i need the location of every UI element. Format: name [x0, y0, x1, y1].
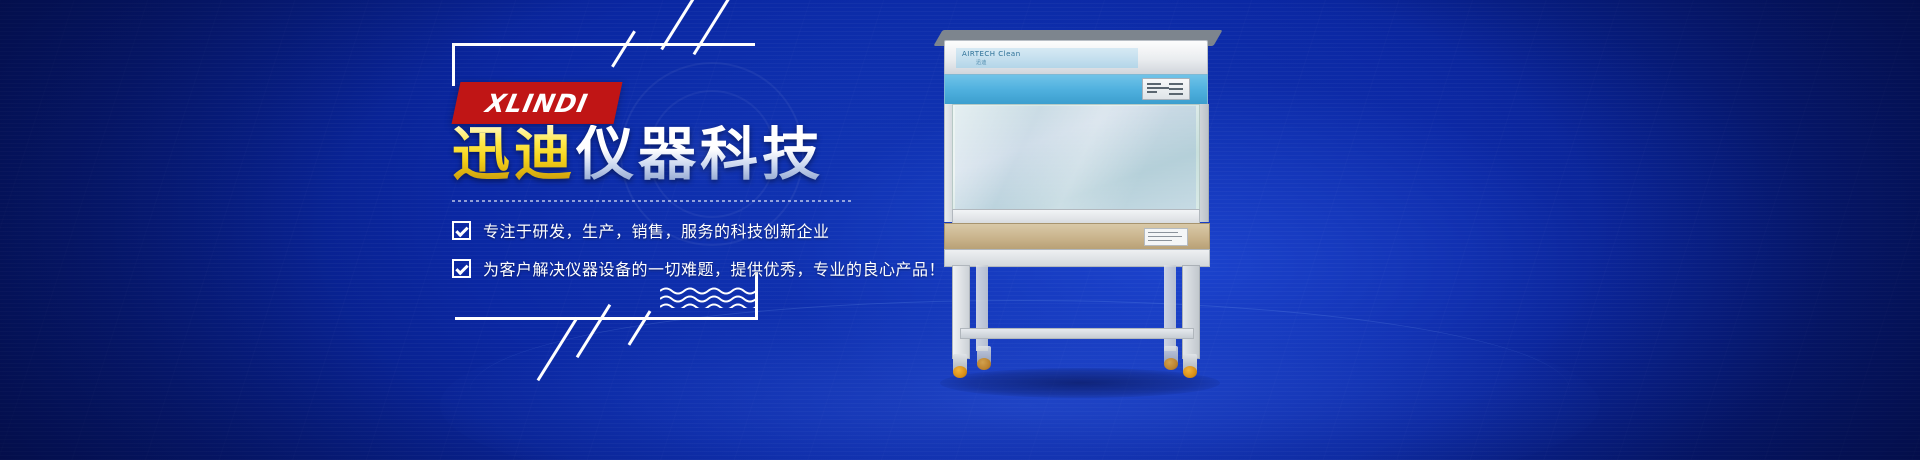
slash-decor-5 [537, 317, 579, 381]
title-part-silver: 仪器科技 [576, 125, 824, 183]
product-image-clean-bench: AIRTECH Clean 迅迪 [930, 28, 1230, 398]
caster-wheel-back-left [977, 346, 991, 364]
checkbox-check-icon [452, 259, 471, 278]
title-part-gold: 迅迪 [452, 125, 576, 183]
logo-text: XLINDI [452, 82, 623, 124]
caster-wheel-back-right [1164, 346, 1178, 364]
logo-parallelogram-shape: XLINDI [452, 82, 623, 124]
control-panel [1142, 78, 1190, 100]
caster-wheel-front-right [1183, 354, 1197, 372]
cabinet-leg-front-left [952, 265, 970, 359]
frame-corner-top-left [452, 43, 755, 86]
list-item: 专注于研发，生产，销售，服务的科技创新企业 [452, 214, 945, 246]
cabinet-spec-label [1144, 228, 1188, 246]
product-shadow [940, 368, 1220, 398]
list-item-label: 专注于研发，生产，销售，服务的科技创新企业 [483, 218, 830, 242]
promo-banner: XLINDI 迅迪 仪器科技 专注于研发，生产，销售，服务的科技创新企业 为客户… [0, 0, 1920, 460]
list-item-label: 为客户解决仪器设备的一切难题，提供优秀，专业的良心产品！ [483, 256, 945, 280]
brand-logo: XLINDI [456, 82, 618, 124]
feature-list: 专注于研发，生产，销售，服务的科技创新企业 为客户解决仪器设备的一切难题，提供优… [452, 214, 945, 290]
page-title: 迅迪 仪器科技 [452, 125, 824, 183]
list-item: 为客户解决仪器设备的一切难题，提供优秀，专业的良心产品！ [452, 252, 945, 284]
cabinet-leg-front-right [1182, 265, 1200, 359]
cabinet-glass-sash [952, 104, 1200, 211]
checkbox-check-icon [452, 221, 471, 240]
product-brand-text: AIRTECH Clean [962, 50, 1021, 58]
product-brand-sub-text: 迅迪 [976, 59, 987, 66]
caster-wheel-front-left [953, 354, 967, 372]
cabinet-crossbar [960, 328, 1194, 339]
dotted-divider [452, 200, 852, 202]
